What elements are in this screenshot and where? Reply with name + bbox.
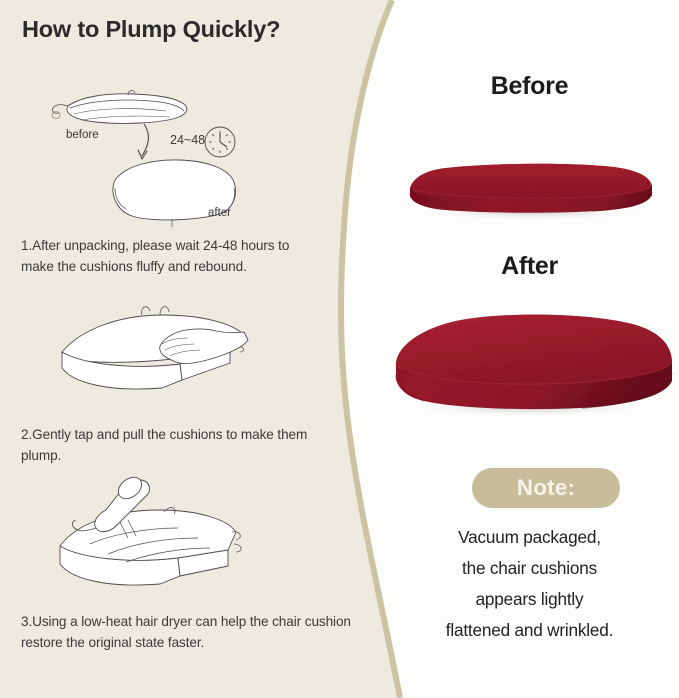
before-cushion-top	[410, 164, 652, 199]
note-line-1: Vacuum packaged,	[380, 522, 679, 553]
step-2-text: 2.Gently tap and pull the cushions to ma…	[21, 425, 321, 466]
unpack-wait-illustration: before 24~48 after	[48, 84, 298, 234]
infographic-page: How to Plump Quickly?	[0, 0, 679, 698]
note-line-4: flattened and wrinkled.	[380, 615, 679, 646]
after-cushion-photo	[380, 295, 679, 425]
page-title: How to Plump Quickly?	[22, 16, 280, 43]
label-duration: 24~48	[170, 133, 205, 147]
note-line-3: appears lightly	[380, 584, 679, 615]
hair-dryer-cushion-illustration	[52, 476, 272, 606]
hand-tap-cushion-illustration	[52, 300, 272, 420]
left-instructions-pane: How to Plump Quickly?	[0, 0, 360, 698]
note-badge: Note:	[472, 468, 620, 508]
step-1-text: 1.After unpacking, please wait 24-48 hou…	[21, 236, 321, 277]
after-cushion-top	[396, 315, 672, 384]
label-after: after	[208, 207, 231, 219]
before-label: Before	[380, 72, 679, 101]
note-line-2: the chair cushions	[380, 553, 679, 584]
label-before: before	[66, 129, 99, 141]
note-body: Vacuum packaged, the chair cushions appe…	[380, 522, 679, 646]
clock-icon	[205, 127, 235, 157]
note-badge-label: Note:	[517, 475, 576, 501]
right-comparison-pane: Before	[380, 0, 679, 698]
step-3-text: 3.Using a low-heat hair dryer can help t…	[21, 612, 351, 653]
hand-shape	[160, 329, 248, 364]
after-label: After	[380, 252, 679, 281]
before-cushion-photo	[380, 140, 679, 235]
